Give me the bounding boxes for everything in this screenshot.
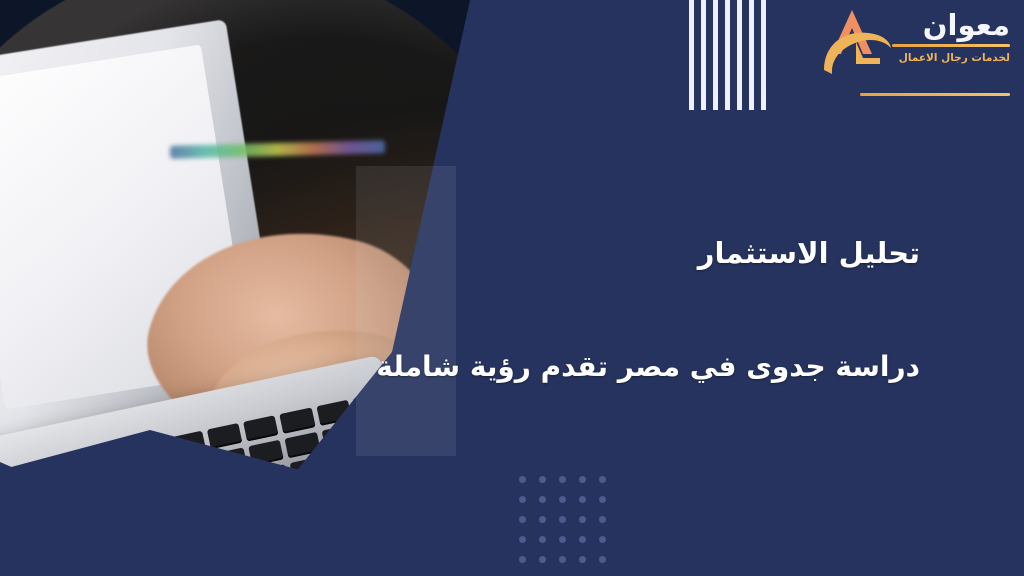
page-title: تحليل الاستثمار (698, 236, 920, 270)
grid-dot (599, 496, 606, 503)
grid-dot (579, 556, 586, 563)
logo-rule-top (892, 44, 1010, 47)
page-subtitle: دراسة جدوى في مصر تقدم رؤية شاملة (376, 350, 920, 383)
grid-dot (559, 556, 566, 563)
grid-dot (519, 516, 526, 523)
logo-rule-bottom (860, 93, 1010, 96)
header-stripe (725, 0, 730, 110)
logo-brand-text: معوان (892, 10, 1010, 40)
grid-dot (519, 496, 526, 503)
grid-dot (579, 476, 586, 483)
banner-canvas: معوان لخدمات رجال الاعمال تحليل الاستثما… (0, 0, 1024, 576)
header-stripe (713, 0, 718, 110)
grid-dot (519, 556, 526, 563)
grid-dot (539, 556, 546, 563)
grid-dot (599, 556, 606, 563)
grid-dot (559, 476, 566, 483)
dot-grid (506, 476, 606, 576)
grid-dot (579, 536, 586, 543)
header-stripe (761, 0, 766, 110)
grid-dot (579, 496, 586, 503)
header-stripe (737, 0, 742, 110)
header-stripe (701, 0, 706, 110)
logo-wordmark-block: معوان لخدمات رجال الاعمال (892, 10, 1010, 64)
header-stripes (689, 0, 766, 110)
grid-dot (599, 536, 606, 543)
header-stripe (749, 0, 754, 110)
grid-dot (519, 536, 526, 543)
grid-dot (539, 496, 546, 503)
header-stripe (689, 0, 694, 110)
brand-logo[interactable]: معوان لخدمات رجال الاعمال (814, 6, 1010, 98)
grid-dot (599, 476, 606, 483)
grid-dot (559, 516, 566, 523)
logo-tagline: لخدمات رجال الاعمال (892, 52, 1010, 64)
grid-dot (539, 536, 546, 543)
grid-dot (559, 496, 566, 503)
grid-dot (539, 516, 546, 523)
maawan-a-monogram-icon (818, 8, 892, 80)
grid-dot (579, 516, 586, 523)
grid-dot (559, 536, 566, 543)
grid-dot (599, 516, 606, 523)
grid-dot (539, 476, 546, 483)
grid-dot (519, 476, 526, 483)
